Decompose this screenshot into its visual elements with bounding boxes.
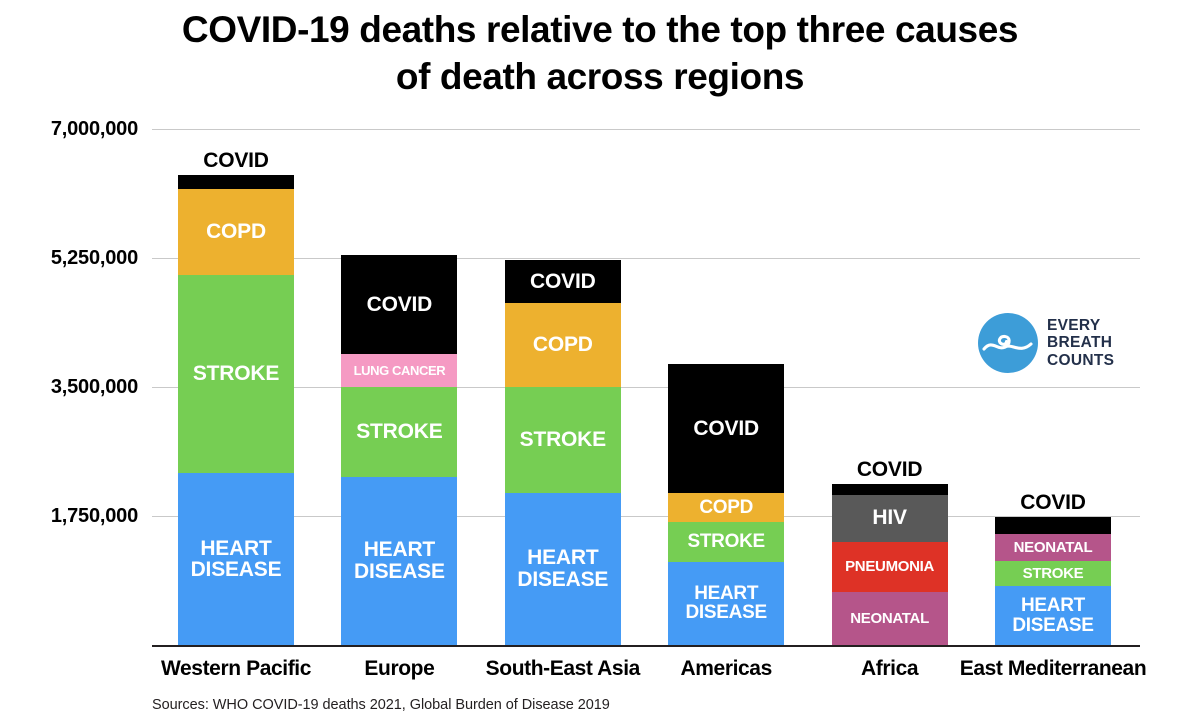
bar-segment-lung_cancer[interactable]: LUNG CANCER: [341, 354, 457, 387]
bar-segment-covid[interactable]: COVID: [505, 260, 621, 303]
y-axis-tick-text: 5,250,000: [51, 247, 138, 270]
bar-segment-heart_disease[interactable]: HEART DISEASE: [178, 473, 294, 645]
bar-segment-stroke[interactable]: STROKE: [178, 275, 294, 473]
logo-wordmark: EVERY BREATH COUNTS: [1047, 317, 1114, 370]
bar-europe[interactable]: HEART DISEASESTROKELUNG CANCERCOVID: [341, 255, 457, 645]
bar-segment-covid[interactable]: [832, 484, 948, 494]
bar-segment-copd[interactable]: COPD: [505, 303, 621, 387]
x-axis-line: [152, 645, 1140, 647]
bar-segment-label-covid: COVID: [158, 149, 314, 173]
bar-segment-stroke[interactable]: STROKE: [668, 522, 784, 562]
gridline-7000000: [152, 129, 1140, 130]
bar-segment-pneumonia[interactable]: PNEUMONIA: [832, 542, 948, 592]
bar-segment-label-covid: COVID: [812, 458, 968, 482]
bar-segment-neonatal[interactable]: NEONATAL: [832, 592, 948, 645]
bar-africa[interactable]: NEONATALPNEUMONIAHIVCOVID: [832, 484, 948, 645]
bar-segment-covid[interactable]: [178, 175, 294, 188]
gridline-3500000: [152, 387, 1140, 388]
bar-segment-covid[interactable]: [995, 517, 1111, 534]
bar-segment-heart_disease[interactable]: HEART DISEASE: [505, 493, 621, 645]
wave-icon: [978, 313, 1038, 373]
bar-segment-label-covid: COVID: [975, 491, 1131, 515]
bar-segment-hiv[interactable]: HIV: [832, 495, 948, 542]
bar-segment-heart_disease[interactable]: HEART DISEASE: [995, 586, 1111, 645]
y-axis-tick-text: 1,750,000: [51, 505, 138, 528]
bar-south-east-asia[interactable]: HEART DISEASESTROKECOPDCOVID: [505, 260, 621, 645]
bar-americas[interactable]: HEART DISEASESTROKECOPDCOVID: [668, 364, 784, 645]
bar-segment-stroke[interactable]: STROKE: [505, 387, 621, 493]
logo-line-2: BREATH: [1047, 334, 1114, 352]
bar-segment-covid[interactable]: COVID: [668, 364, 784, 493]
bar-segment-copd[interactable]: COPD: [178, 189, 294, 275]
bar-segment-neonatal[interactable]: NEONATAL: [995, 534, 1111, 561]
bar-east-mediterranean[interactable]: HEART DISEASESTROKENEONATALCOVID: [995, 517, 1111, 645]
gridline-1750000: [152, 516, 1140, 517]
bar-western-pacific[interactable]: HEART DISEASESTROKECOPDCOVID: [178, 175, 294, 645]
bar-segment-stroke[interactable]: STROKE: [995, 561, 1111, 586]
bar-segment-heart_disease[interactable]: HEART DISEASE: [668, 562, 784, 645]
bar-segment-covid[interactable]: COVID: [341, 255, 457, 354]
every-breath-counts-logo: EVERY BREATH COUNTS: [978, 312, 1143, 374]
y-axis-tick-text: 7,000,000: [51, 118, 138, 141]
gridline-5250000: [152, 258, 1140, 259]
bar-segment-copd[interactable]: COPD: [668, 493, 784, 522]
source-note: Sources: WHO COVID-19 deaths 2021, Globa…: [152, 697, 610, 713]
logo-line-1: EVERY: [1047, 317, 1114, 335]
bar-segment-stroke[interactable]: STROKE: [341, 387, 457, 477]
bar-segment-heart_disease[interactable]: HEART DISEASE: [341, 477, 457, 645]
y-axis-tick-text: 3,500,000: [51, 376, 138, 399]
logo-line-3: COUNTS: [1047, 352, 1114, 370]
category-label-east-mediterranean: East Mediterranean: [943, 657, 1163, 681]
